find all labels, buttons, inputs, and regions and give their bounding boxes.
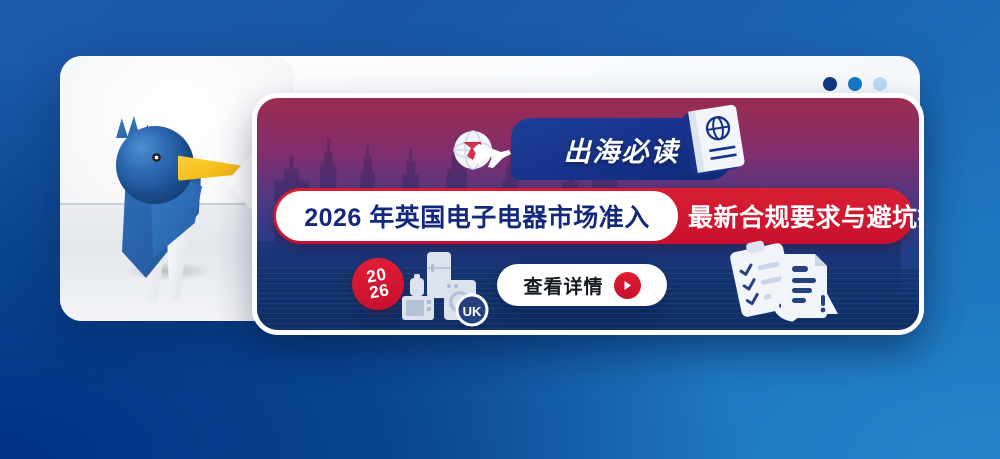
headline-bar: 2026 年英国电子电器市场准入 最新合规要求与避坑指南 [273, 188, 913, 244]
kettle-icon [410, 274, 424, 296]
view-details-button[interactable]: 查看详情 [497, 264, 667, 306]
window-dot-close[interactable] [823, 77, 837, 91]
page-background: 出海必读 2026 年英国电子电器市场准入 最新合规要求与避坑指南 [0, 0, 1000, 459]
compliance-icons-group [727, 238, 843, 324]
banner-body: 出海必读 2026 年英国电子电器市场准入 最新合规要求与避坑指南 [252, 93, 924, 335]
appliance-icons-group: UK [400, 250, 490, 328]
year-badge-bottom: 26 [368, 282, 390, 301]
svg-text:UK: UK [463, 304, 482, 319]
promo-banner[interactable]: 出海必读 2026 年英国电子电器市场准入 最新合规要求与避坑指南 [252, 93, 924, 335]
view-details-label: 查看详情 [523, 272, 603, 299]
headline-red-text: 最新合规要求与避坑指南 [678, 198, 924, 234]
globe-airplane-icon [449, 124, 511, 176]
passport-icon [676, 101, 752, 180]
uk-circle-badge: UK [457, 295, 487, 325]
chevron-right-icon [614, 272, 641, 299]
window-dot-maximize[interactable] [873, 77, 887, 91]
bird-figurine [100, 106, 250, 296]
document-warning-icon [781, 254, 838, 318]
bird-eye [152, 153, 161, 162]
window-controls[interactable] [823, 77, 887, 91]
window-dot-minimize[interactable] [848, 77, 862, 91]
microwave-icon [402, 296, 434, 320]
bird-shadow [108, 258, 228, 284]
headline-pill-text: 2026 年英国电子电器市场准入 [276, 191, 678, 241]
